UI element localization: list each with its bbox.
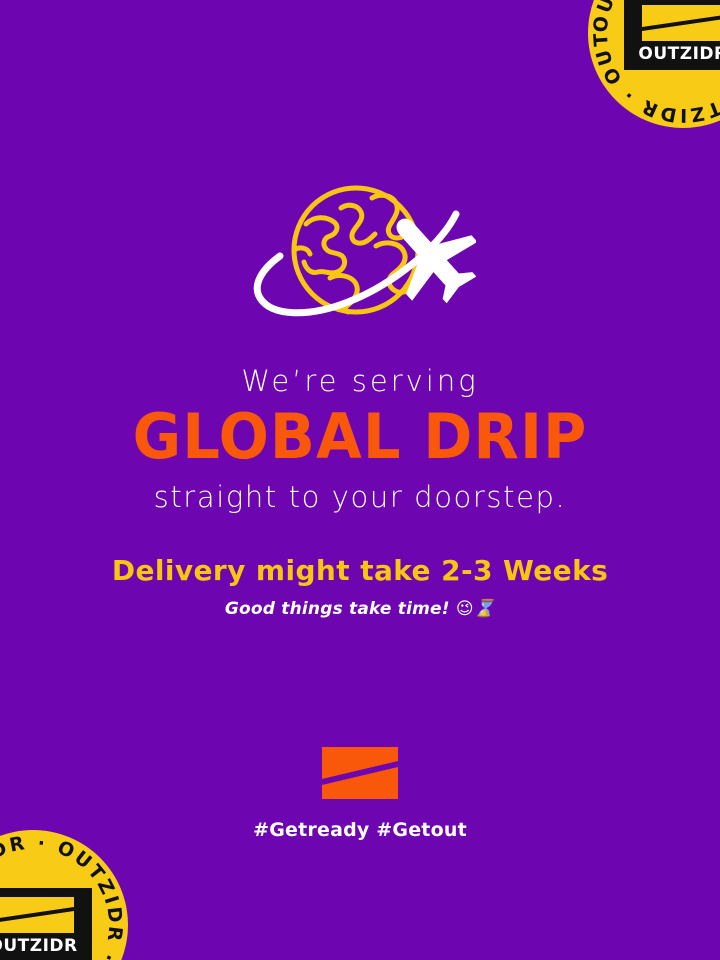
brand-badge-top-right: OUTZIDR · OUTZIDR · OUTZIDR · OUTZIDR · …	[588, 0, 720, 128]
page-title: GLOBAL DRIP	[0, 404, 720, 469]
tagline-text: Good things take time! 😉⌛	[0, 601, 720, 619]
badge-wordmark: OUTZIDR	[638, 46, 720, 63]
z-logo-icon	[320, 745, 400, 801]
brand-badge-bottom-left: OUTZIDR · OUTZIDR · OUTZIDR · OUTZIDR · …	[0, 830, 128, 960]
footer-brand: #Getready #Getout	[0, 745, 720, 841]
message-block: We’re serving GLOBAL DRIP straight to yo…	[0, 366, 720, 619]
globe-illustration	[0, 172, 720, 340]
badge-core-bottom-left: OUTZIDR	[0, 888, 92, 960]
promo-poster: We’re serving GLOBAL DRIP straight to yo…	[0, 0, 720, 960]
subline-text: straight to your doorstep.	[0, 482, 720, 512]
kicker-text: We’re serving	[0, 366, 720, 396]
hashtags-text: #Getready #Getout	[253, 819, 467, 841]
delivery-notice: Delivery might take 2-3 Weeks	[0, 556, 720, 585]
badge-core-top-right: OUTZIDR	[624, 0, 720, 70]
badge-wordmark: OUTZIDR	[0, 938, 78, 955]
